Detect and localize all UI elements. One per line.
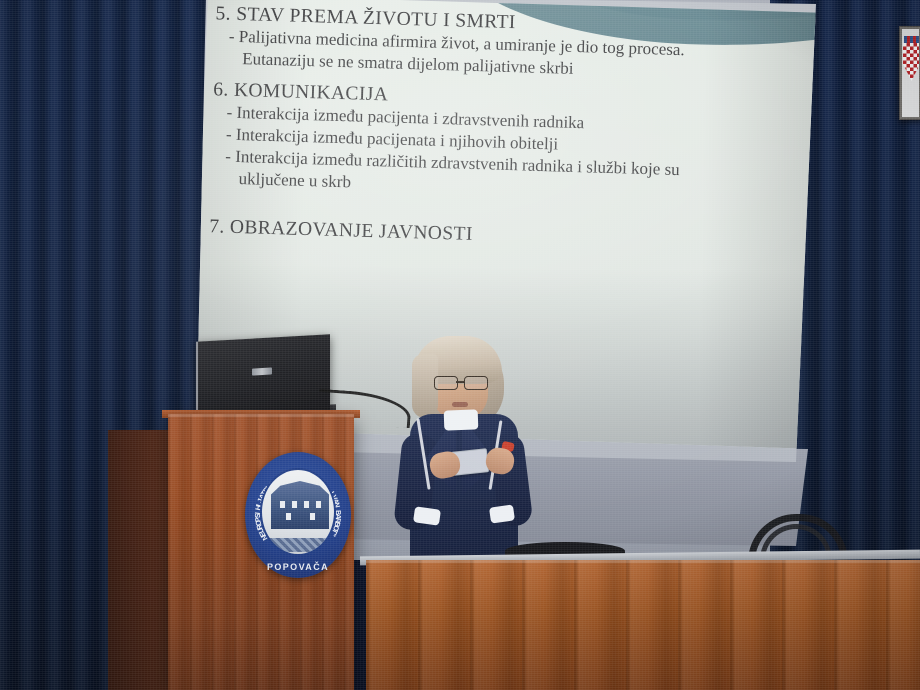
collar [444, 409, 479, 430]
front-desk [366, 560, 920, 690]
emblem-foliage [264, 538, 332, 552]
croatian-coat-of-arms-icon [903, 43, 919, 93]
cuff-right [489, 504, 515, 523]
cuff-left [413, 506, 441, 525]
mouth [452, 402, 468, 407]
presenter [390, 330, 540, 580]
hospital-emblem: NEUROPSIHIJATRIJSKABOLNICA"dr.IVANBARBOT… [245, 452, 351, 578]
emblem-inner-disc [260, 468, 336, 556]
laptop-logo-icon [252, 367, 272, 375]
presentation-photo-scene: 5. STAV PREMA ŽIVOTU I SMRTI - Palijativ… [0, 0, 920, 690]
frame-inner [902, 29, 919, 117]
emblem-building-icon [271, 481, 329, 529]
glasses-icon [434, 376, 488, 388]
podium-side-panel [108, 430, 176, 690]
slide-text-block: 5. STAV PREMA ŽIVOTU I SMRTI - Palijativ… [209, 2, 801, 257]
framed-picture [899, 26, 920, 120]
laptop-lid [196, 334, 330, 417]
emblem-bottom-text: POPOVAČA [245, 562, 351, 572]
